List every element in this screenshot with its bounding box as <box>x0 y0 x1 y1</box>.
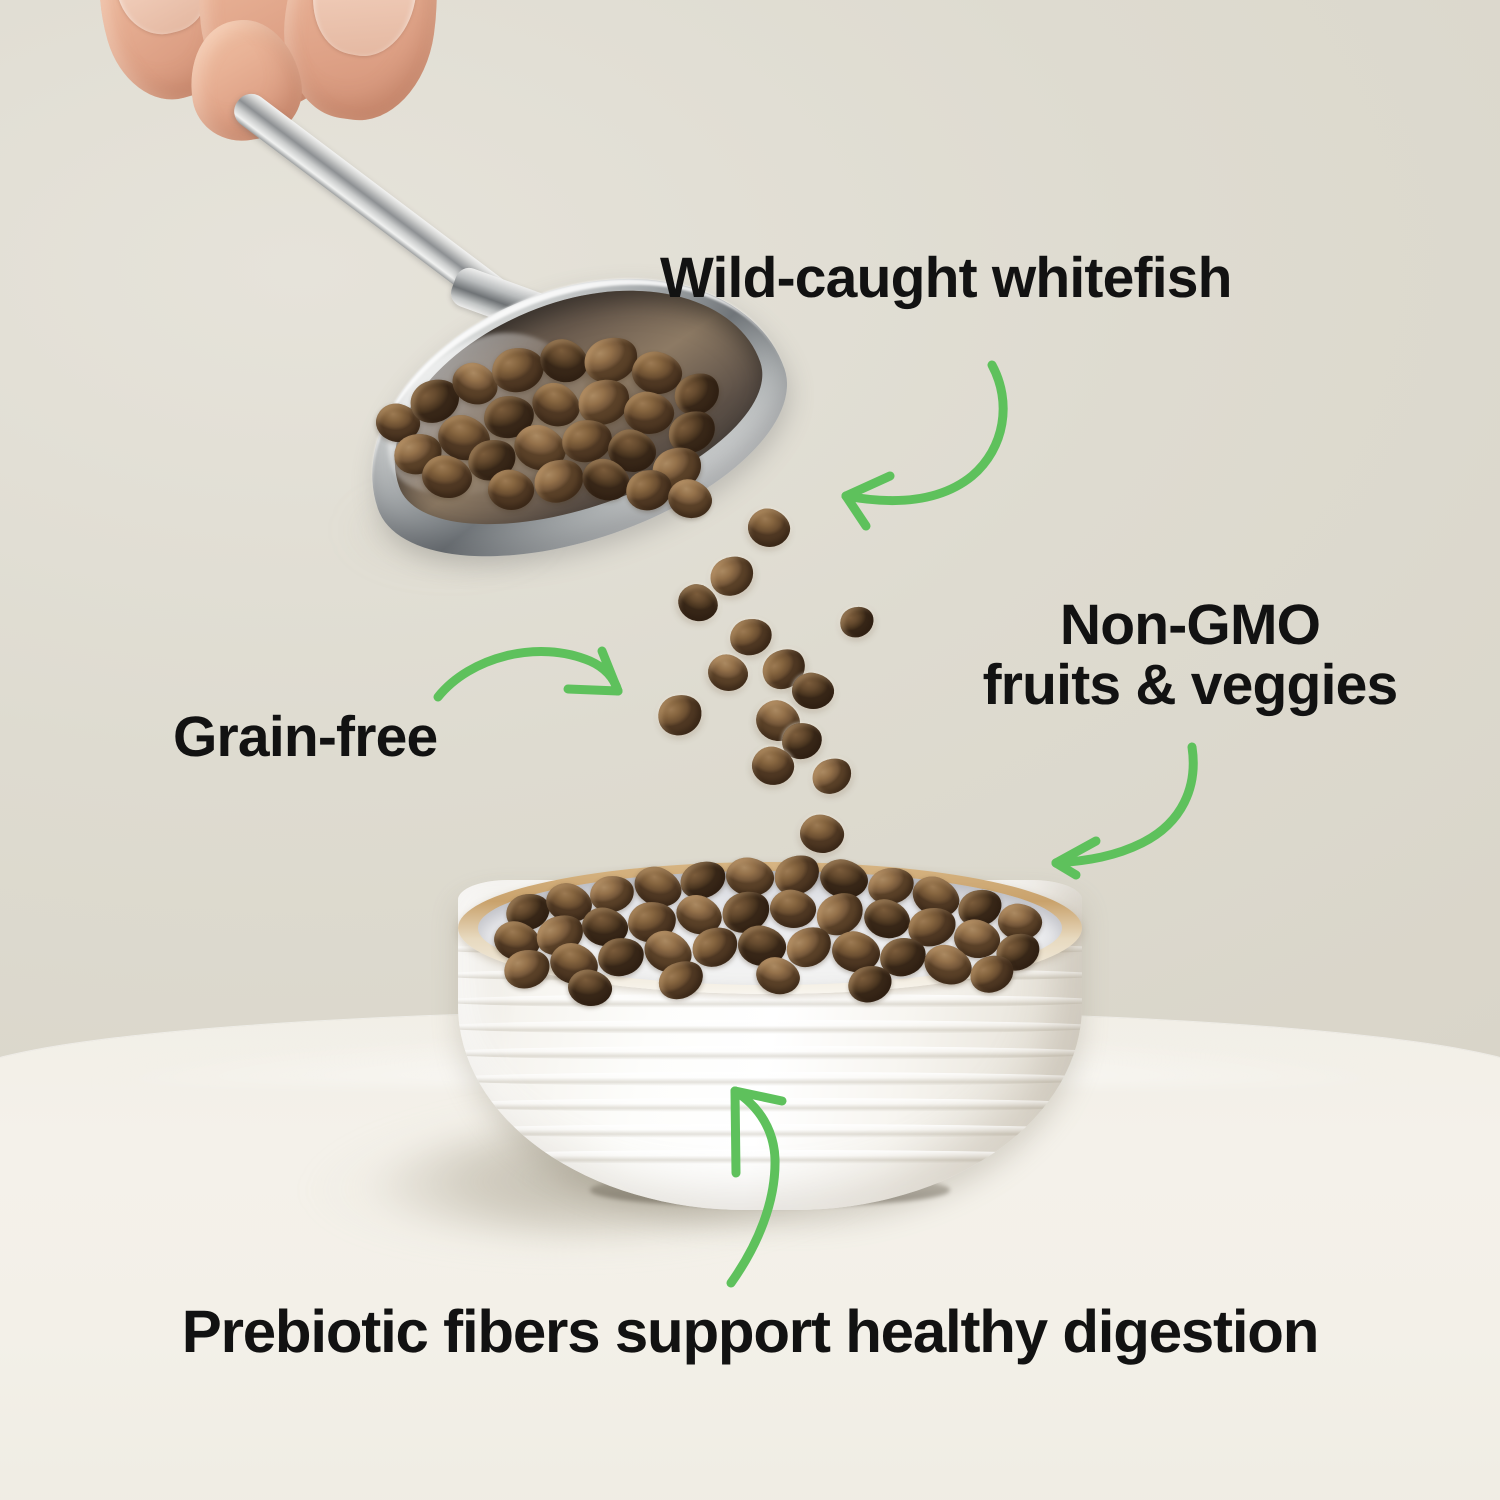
scoop-kibble-pile <box>368 308 738 508</box>
ceramic-dog-bowl <box>440 840 1100 1230</box>
callout-label-whitefish: Wild-caught whitefish <box>660 248 1232 308</box>
bowl-kibble-pile <box>488 858 1054 998</box>
product-infographic: Wild-caught whitefish Non-GMO fruits & v… <box>0 0 1500 1500</box>
callout-label-non-gmo: Non-GMO fruits & veggies <box>955 595 1425 716</box>
falling-kibble-stream <box>630 495 920 885</box>
callout-label-grain-free: Grain-free <box>173 707 437 767</box>
callout-label-prebiotic: Prebiotic fibers support healthy digesti… <box>0 1300 1500 1364</box>
